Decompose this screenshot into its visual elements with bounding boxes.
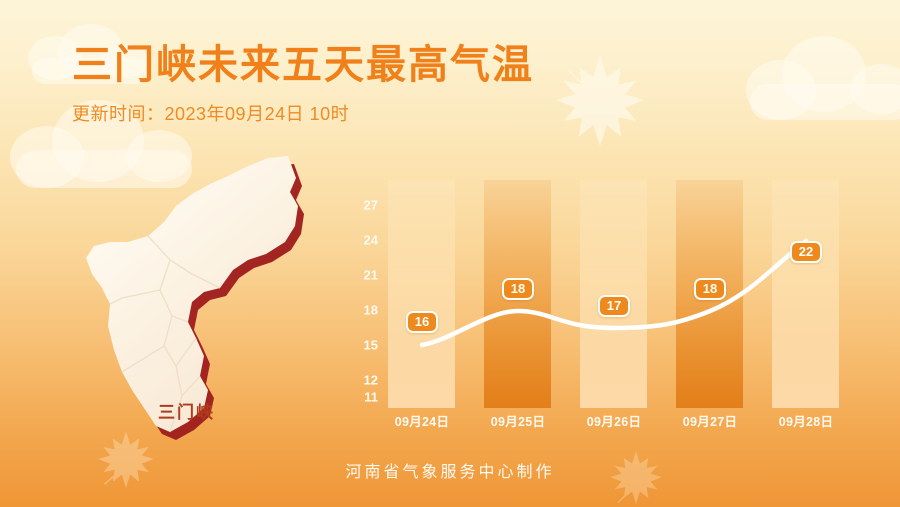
map-shape (52, 150, 342, 440)
chart-plot-area: 16 18 17 18 22 09月24日 09月25日 09月26日 09月2… (382, 180, 870, 430)
y-tick-24: 24 (340, 233, 378, 248)
x-label-day-5: 09月28日 (758, 411, 854, 430)
temperature-curve (382, 180, 870, 408)
y-tick-21: 21 (340, 268, 378, 283)
x-label-day-3: 09月26日 (566, 411, 662, 430)
x-label-day-1: 09月24日 (374, 411, 470, 430)
y-tick-15: 15 (340, 338, 378, 353)
data-label-day-2: 18 (502, 278, 534, 300)
temperature-chart: 27 24 21 18 15 12 11 16 18 17 18 22 (340, 180, 870, 430)
data-label-day-3: 17 (598, 295, 630, 317)
x-label-day-2: 09月25日 (470, 411, 566, 430)
maple-leaf-icon-top (552, 52, 648, 148)
y-tick-11: 11 (340, 390, 378, 405)
x-label-day-4: 09月27日 (662, 411, 758, 430)
weather-forecast-poster: 三门峡未来五天最高气温 更新时间：2023年09月24日 10时 (0, 0, 900, 507)
footer-credit: 河南省气象服务中心制作 (0, 458, 900, 482)
page-title: 三门峡未来五天最高气温 (72, 40, 534, 90)
y-tick-27: 27 (340, 198, 378, 213)
poster-header: 三门峡未来五天最高气温 更新时间：2023年09月24日 10时 (72, 40, 534, 126)
data-label-day-4: 18 (694, 278, 726, 300)
map-region-label: 三门峡 (158, 398, 215, 423)
y-tick-18: 18 (340, 303, 378, 318)
chart-y-axis: 27 24 21 18 15 12 11 (340, 180, 378, 410)
update-time-text: 更新时间：2023年09月24日 10时 (72, 100, 534, 126)
y-tick-12: 12 (340, 373, 378, 388)
sanmenxia-region-map: 三门峡 (52, 150, 342, 440)
data-label-day-1: 16 (406, 311, 438, 333)
data-label-day-5: 22 (790, 241, 822, 263)
